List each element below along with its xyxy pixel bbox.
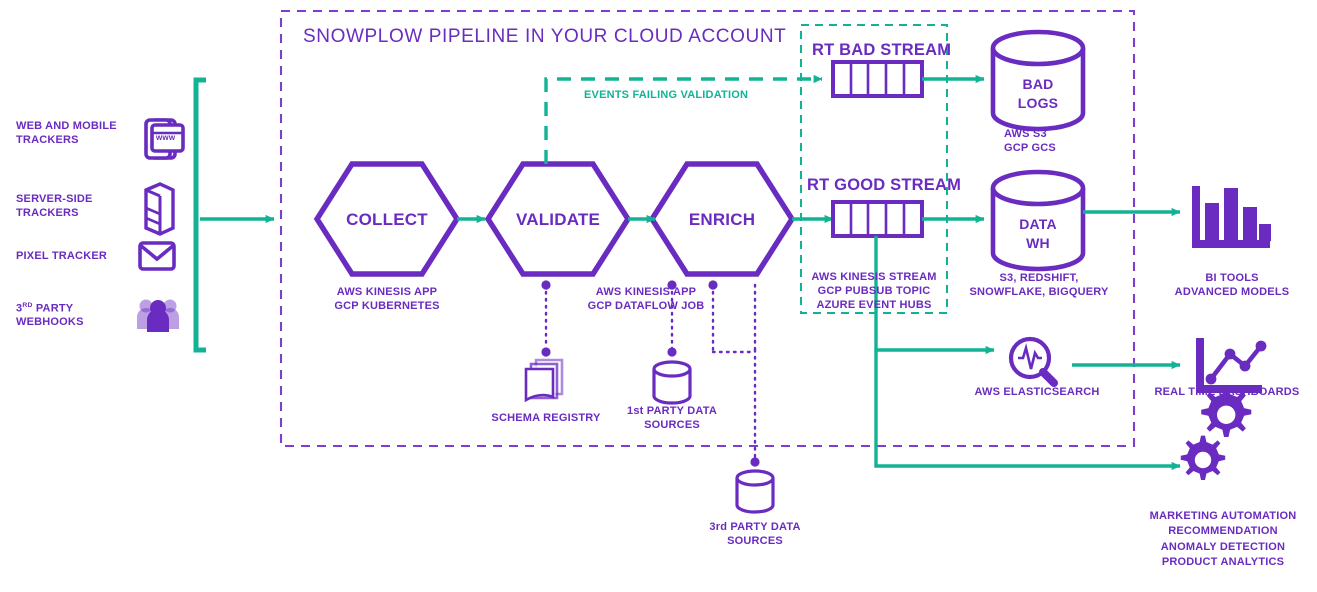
bad-logs-sub-line2: GCP GCS: [1004, 142, 1056, 154]
first-party-label: 1st PARTY DATA SOURCES: [612, 405, 732, 433]
first-party-line1: 1st PARTY DATA: [627, 405, 717, 417]
line-chart-icon: [1196, 338, 1266, 393]
validate-sub-line1: AWS KINESIS APP: [596, 286, 696, 298]
activation-line4: PRODUCT ANALYTICS: [1162, 556, 1284, 568]
elasticsearch-label: AWS ELASTICSEARCH: [952, 386, 1122, 400]
hex-label-collect: COLLECT: [317, 209, 457, 230]
bi-tools-label: BI TOOLS ADVANCED MODELS: [1146, 272, 1317, 300]
label-rt-bad-stream: RT BAD STREAM: [812, 40, 951, 61]
data-wh-label: DATA WH: [993, 215, 1083, 253]
activation-line3: ANOMALY DETECTION: [1161, 541, 1285, 553]
bad-logs-sublabel: AWS S3 GCP GCS: [1004, 128, 1056, 156]
data-wh-line2: WH: [1026, 235, 1050, 251]
server-icon: [146, 184, 173, 234]
pipeline-title: SNOWPLOW PIPELINE IN YOUR CLOUD ACCOUNT: [303, 25, 786, 49]
source-label-server-side: SERVER-SIDE TRACKERS: [16, 193, 126, 221]
bi-tools-line2: ADVANCED MODELS: [1175, 286, 1290, 298]
data-wh-sublabel: S3, REDSHIFT, SNOWFLAKE, BIGQUERY: [953, 272, 1125, 300]
hex-sub-validate: AWS KINESIS APP GCP DATAFLOW JOB: [561, 286, 731, 314]
bad-logs-sub-line1: AWS S3: [1004, 128, 1047, 140]
validate-sub-line2: GCP DATAFLOW JOB: [588, 300, 705, 312]
data-wh-sub-line1: S3, REDSHIFT,: [999, 272, 1078, 284]
bad-logs-line1: BAD: [1023, 76, 1054, 92]
activation-line1: MARKETING AUTOMATION: [1150, 510, 1297, 522]
source-label-third-party-webhooks: 3RD PARTYWEBHOOKS: [16, 302, 126, 330]
good-stream-queue-icon: [833, 202, 922, 236]
people-icon: [137, 300, 179, 333]
third-party-line1: 3rd PARTY DATA: [709, 521, 800, 533]
good-stream-sublabel: AWS KINESIS STREAM GCP PUBSUB TOPIC AZUR…: [801, 271, 947, 312]
bad-logs-line2: LOGS: [1018, 95, 1058, 111]
sources-bracket: [196, 80, 206, 350]
good-stream-sub-line3: AZURE EVENT HUBS: [816, 299, 931, 311]
activation-label: MARKETING AUTOMATION RECOMMENDATION ANOM…: [1128, 509, 1317, 571]
third-party-cylinder-icon: [737, 471, 773, 512]
documents-icon: [526, 360, 562, 400]
third-party-line2: SOURCES: [727, 535, 783, 547]
third-party-label: 3rd PARTY DATA SOURCES: [695, 521, 815, 549]
dashboards-label: REAL TIME DASHBOARDS: [1136, 386, 1317, 400]
collect-sub-line2: GCP KUBERNETES: [334, 300, 439, 312]
bad-logs-label: BAD LOGS: [993, 75, 1083, 113]
source-pixel-line1: PIXEL TRACKER: [16, 250, 107, 262]
source-web-mobile-line2: TRACKERS: [16, 134, 79, 146]
good-stream-sub-line1: AWS KINESIS STREAM: [811, 271, 936, 283]
source-web-mobile-line1: WEB AND MOBILE: [16, 120, 117, 132]
activation-line2: RECOMMENDATION: [1168, 525, 1278, 537]
envelope-icon: [140, 243, 174, 269]
bar-chart-icon: [1192, 186, 1271, 248]
source-server-line2: TRACKERS: [16, 207, 79, 219]
bad-stream-queue-icon: [833, 62, 922, 96]
source-label-pixel-tracker: PIXEL TRACKER: [16, 250, 134, 264]
www-text-icon: www: [156, 133, 175, 143]
source-server-line1: SERVER-SIDE: [16, 193, 93, 205]
bi-tools-line1: BI TOOLS: [1205, 272, 1258, 284]
hex-label-enrich: ENRICH: [652, 209, 792, 230]
first-party-line2: SOURCES: [644, 419, 700, 431]
magnifier-pulse-icon: [1011, 339, 1054, 383]
source-label-web-mobile: WEB AND MOBILE TRACKERS: [16, 120, 126, 148]
label-rt-good-stream: RT GOOD STREAM: [807, 175, 961, 196]
label-events-failing-validation: EVENTS FAILING VALIDATION: [584, 89, 748, 103]
diagram-canvas: SNOWPLOW PIPELINE IN YOUR CLOUD ACCOUNT …: [0, 0, 1317, 592]
data-wh-line1: DATA: [1019, 216, 1057, 232]
data-wh-sub-line2: SNOWFLAKE, BIGQUERY: [969, 286, 1108, 298]
collect-sub-line1: AWS KINESIS APP: [337, 286, 437, 298]
schema-registry-label: SCHEMA REGISTRY: [478, 412, 614, 426]
hex-sub-collect: AWS KINESIS APP GCP KUBERNETES: [307, 286, 467, 314]
good-stream-sub-line2: GCP PUBSUB TOPIC: [818, 285, 931, 297]
hex-label-validate: VALIDATE: [488, 209, 628, 230]
first-party-cylinder-icon: [654, 362, 690, 403]
gears-icon: [1181, 387, 1252, 480]
